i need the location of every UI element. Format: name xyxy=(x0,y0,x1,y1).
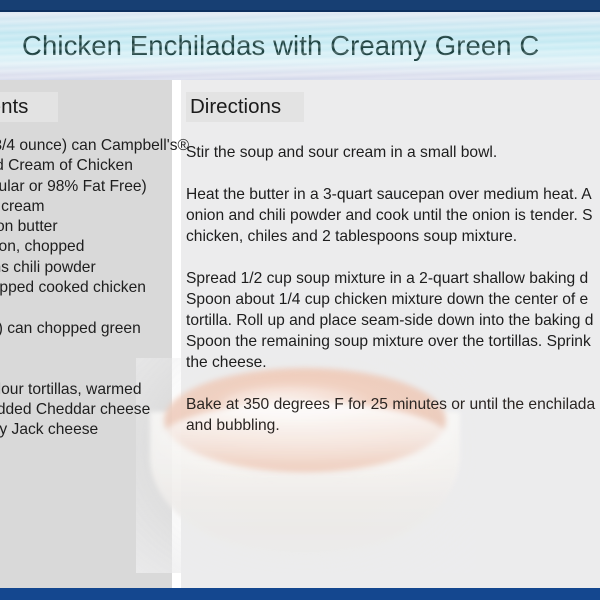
direction-step-1: Stir the soup and sour cream in a small … xyxy=(186,142,600,163)
directions-heading-label: Directions xyxy=(190,95,281,118)
title-banner: Chicken Enchiladas with Creamy Green C xyxy=(0,12,600,80)
direction-line: Bake at 350 degrees F for 25 minutes or … xyxy=(186,394,600,415)
direction-line: tortilla. Roll up and place seam-side do… xyxy=(186,310,600,331)
direction-line: Spoon about 1/4 cup chicken mixture down… xyxy=(186,289,600,310)
card-body: Ingredients 1 can (10 3/4 ounce) can Cam… xyxy=(0,80,600,588)
direction-line: Spoon the remaining soup mixture over th… xyxy=(186,331,600,352)
direction-step-2: Heat the butter in a 3-quart saucepan ov… xyxy=(186,184,600,247)
bottom-border-rule xyxy=(0,588,600,600)
ingredients-heading-label: Ingredients xyxy=(0,92,28,122)
ingredients-heading-tab: Ingredients xyxy=(0,92,58,122)
direction-step-4-bake: Bake at 350 degrees F for 25 minutes or … xyxy=(186,394,600,436)
direction-line: Spread 1/2 cup soup mixture in a 2-quart… xyxy=(186,268,600,289)
direction-line: and bubbling. xyxy=(186,415,600,436)
direction-line: Stir the soup and sour cream in a small … xyxy=(186,142,600,163)
direction-line: the cheese. xyxy=(186,352,600,373)
page-title: Chicken Enchiladas with Creamy Green C xyxy=(22,30,539,62)
directions-body: Stir the soup and sour cream in a small … xyxy=(186,142,600,436)
top-border-rule xyxy=(0,0,600,10)
direction-line: Heat the butter in a 3-quart saucepan ov… xyxy=(186,184,600,205)
directions-heading-tab: Directions xyxy=(186,92,304,122)
recipe-card: Chicken Enchiladas with Creamy Green C I… xyxy=(0,0,600,600)
directions-section: Directions Stir the soup and sour cream … xyxy=(181,80,600,588)
ingredients-section: Ingredients 1 can (10 3/4 ounce) can Cam… xyxy=(0,80,172,588)
direction-line: chicken, chiles and 2 tablespoons soup m… xyxy=(186,226,600,247)
direction-step-3: Spread 1/2 cup soup mixture in a 2-quart… xyxy=(186,268,600,373)
direction-line: onion and chili powder and cook until th… xyxy=(186,205,600,226)
